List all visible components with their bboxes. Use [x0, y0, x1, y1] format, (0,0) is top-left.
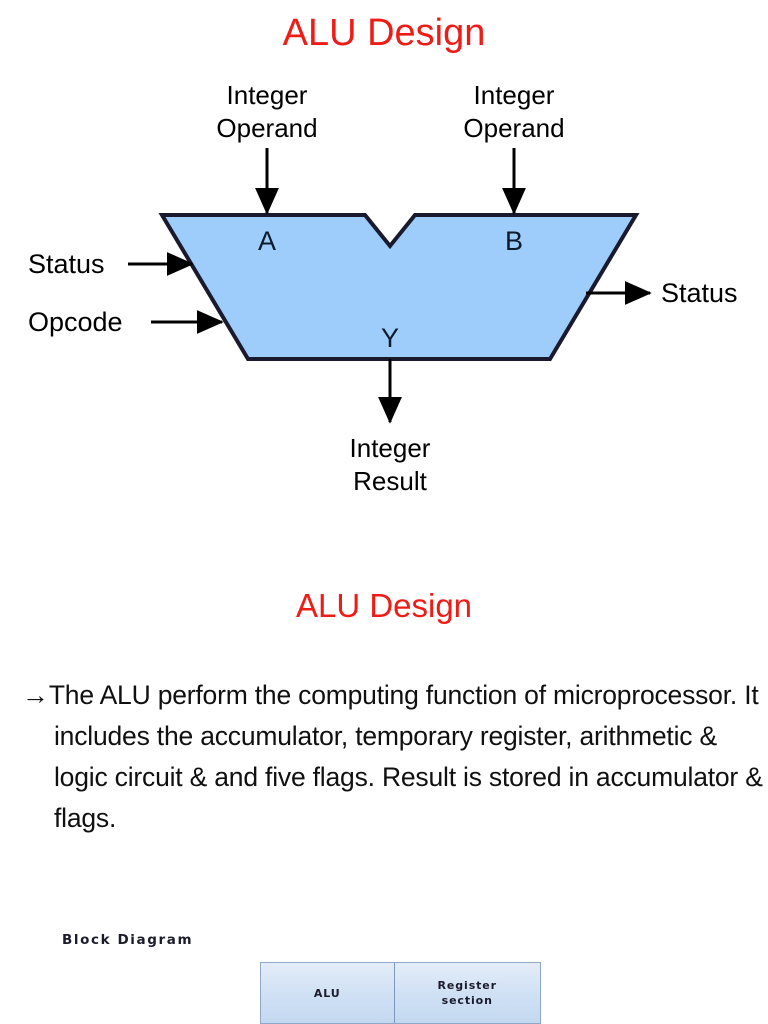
input-a-label-line1: Integer — [227, 80, 308, 110]
input-b-label-line2: Operand — [463, 113, 564, 143]
block-diagram-boxes: ALU Registersection — [260, 962, 541, 1024]
slide2-page-title: ALU Design — [0, 585, 768, 627]
port-y-label: Y — [381, 323, 399, 353]
alu-block-diagram: Integer Operand A Integer Operand B Stat… — [0, 70, 768, 510]
block-register-section: Registersection — [395, 963, 540, 1023]
slide1-page-title: ALU Design — [0, 10, 768, 56]
block-alu: ALU — [261, 963, 395, 1023]
input-status-label: Status — [28, 249, 105, 279]
block-register-section-label-line1: Register — [438, 979, 497, 992]
output-result-label-line2: Result — [353, 466, 427, 496]
slide2-body-text: The ALU perform the computing function o… — [49, 680, 763, 833]
input-a-label-line2: Operand — [216, 113, 317, 143]
port-a-label: A — [258, 226, 276, 256]
slide2-body-paragraph: →The ALU perform the computing function … — [22, 675, 768, 839]
output-status-label: Status — [661, 278, 738, 308]
input-opcode-label: Opcode — [28, 307, 123, 337]
block-register-section-label-line2: section — [442, 994, 493, 1007]
input-b-label-line1: Integer — [474, 80, 555, 110]
block-alu-label: ALU — [314, 986, 341, 1001]
block-diagram-label: Block Diagram — [62, 932, 193, 948]
port-b-label: B — [505, 226, 523, 256]
block-register-section-label: Registersection — [438, 978, 497, 1008]
bullet-arrow-icon: → — [22, 680, 49, 710]
output-result-label-line1: Integer — [350, 433, 431, 463]
